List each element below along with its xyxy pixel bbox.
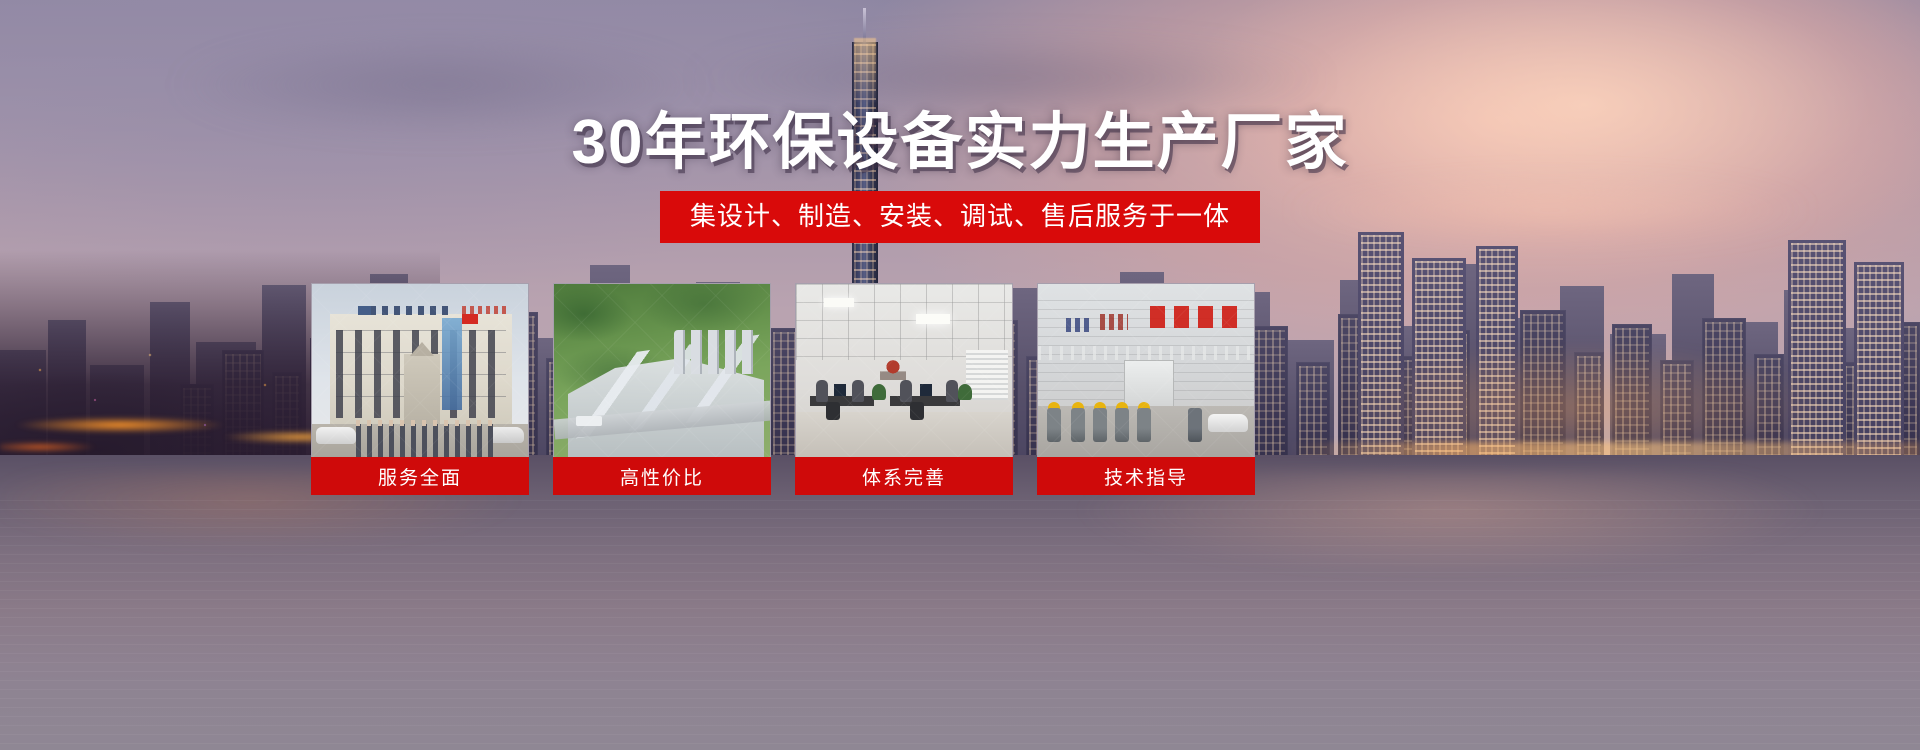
card-label: 技术指导 [1037, 457, 1255, 495]
card-label: 服务全面 [311, 457, 529, 495]
feature-card[interactable]: 服务全面 [311, 283, 529, 495]
watermark-overlay [312, 284, 528, 457]
banner-headline: 30年环保设备实力生产厂家 [0, 100, 1920, 186]
watermark-overlay [796, 284, 1012, 457]
watermark-overlay [554, 284, 770, 457]
feature-card[interactable]: 体系完善 [795, 283, 1013, 495]
banner-content: 30年环保设备实力生产厂家 集设计、制造、安装、调试、售后服务于一体 [0, 0, 1920, 750]
feature-card-list: 服务全面 高性价比 [311, 283, 1255, 495]
card-image-production-plant [553, 283, 771, 457]
card-image-office-interior [795, 283, 1013, 457]
card-label: 体系完善 [795, 457, 1013, 495]
banner-subtitle-bar: 集设计、制造、安装、调试、售后服务于一体 [660, 191, 1260, 243]
hero-banner: 30年环保设备实力生产厂家 集设计、制造、安装、调试、售后服务于一体 [0, 0, 1920, 750]
feature-card[interactable]: 技术指导 [1037, 283, 1255, 495]
card-image-factory-workshop [1037, 283, 1255, 457]
card-image-office-building [311, 283, 529, 457]
feature-card[interactable]: 高性价比 [553, 283, 771, 495]
card-label: 高性价比 [553, 457, 771, 495]
watermark-overlay [1038, 284, 1254, 457]
